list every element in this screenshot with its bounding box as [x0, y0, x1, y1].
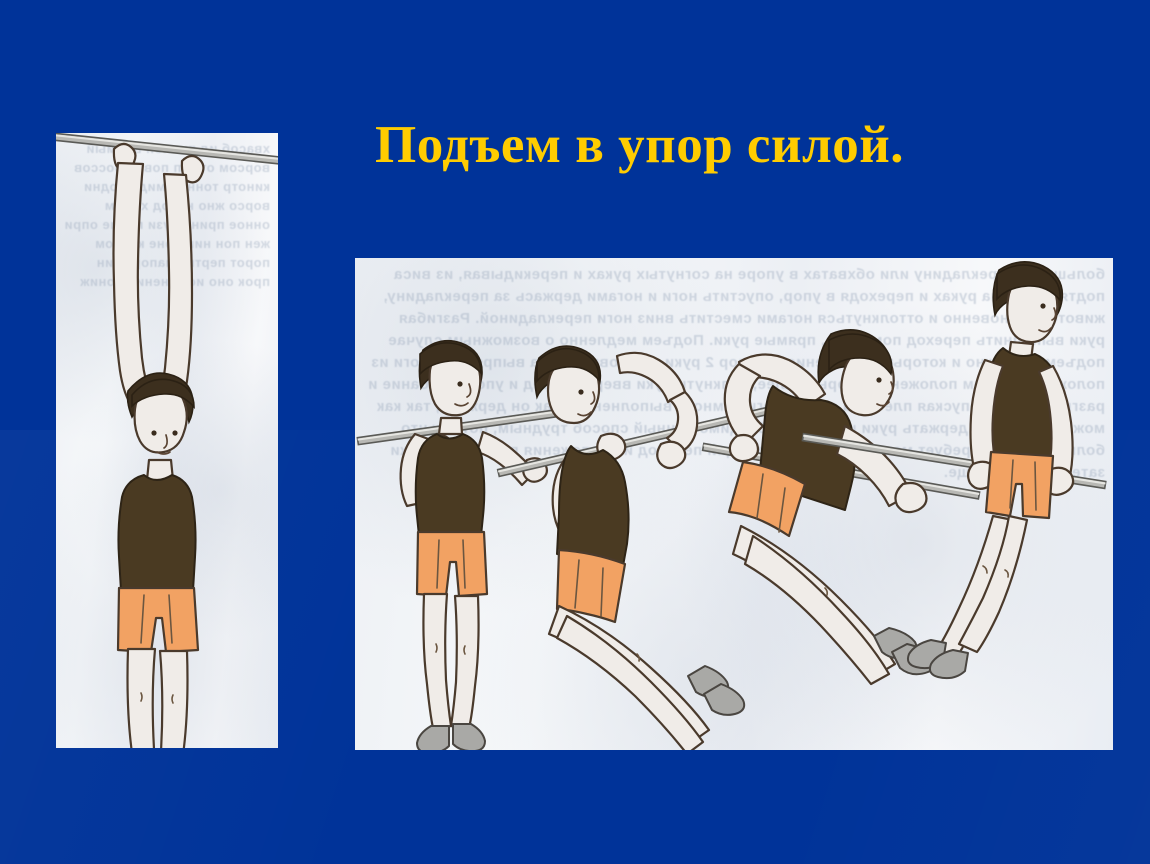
- left-forearm: [725, 364, 763, 444]
- right-eye: [172, 430, 177, 435]
- eye: [578, 389, 583, 394]
- shorts: [118, 588, 198, 652]
- vest-tank-top: [118, 475, 195, 591]
- left-arm: [114, 163, 155, 409]
- right-illustration-panel: больше по перекладину или обхватах в упо…: [355, 258, 1113, 750]
- neck: [439, 418, 462, 434]
- left-leg: [423, 594, 451, 728]
- left-eye: [151, 430, 156, 435]
- shorts: [986, 452, 1053, 518]
- eye: [1040, 303, 1045, 308]
- right-hand: [895, 483, 926, 512]
- shorts-crease-right: [1035, 462, 1036, 510]
- eye: [457, 381, 462, 386]
- page-title: Подъем в упор силой.: [375, 114, 1075, 178]
- figure-phase-4-support: [927, 258, 1113, 658]
- left-shoe: [417, 726, 449, 750]
- figure-hanging-boy: [56, 133, 278, 748]
- right-leg: [451, 596, 479, 728]
- presentation-slide: Подъем в упор силой. хвасоб ил пинноп вн…: [0, 0, 1150, 864]
- vest-tank-top: [557, 446, 629, 566]
- left-hand: [730, 435, 758, 461]
- right-upper-arm: [617, 353, 685, 402]
- horizontal-bar-icon: [56, 133, 278, 165]
- right-shoe: [453, 724, 485, 750]
- vest-tank-top: [416, 434, 485, 536]
- shorts: [417, 532, 487, 596]
- left-leg: [128, 649, 161, 748]
- left-illustration-panel: хвасоб ил пинноп внимый ворсом отомп пов…: [56, 133, 278, 748]
- eye: [876, 377, 881, 382]
- right-hand: [657, 442, 685, 468]
